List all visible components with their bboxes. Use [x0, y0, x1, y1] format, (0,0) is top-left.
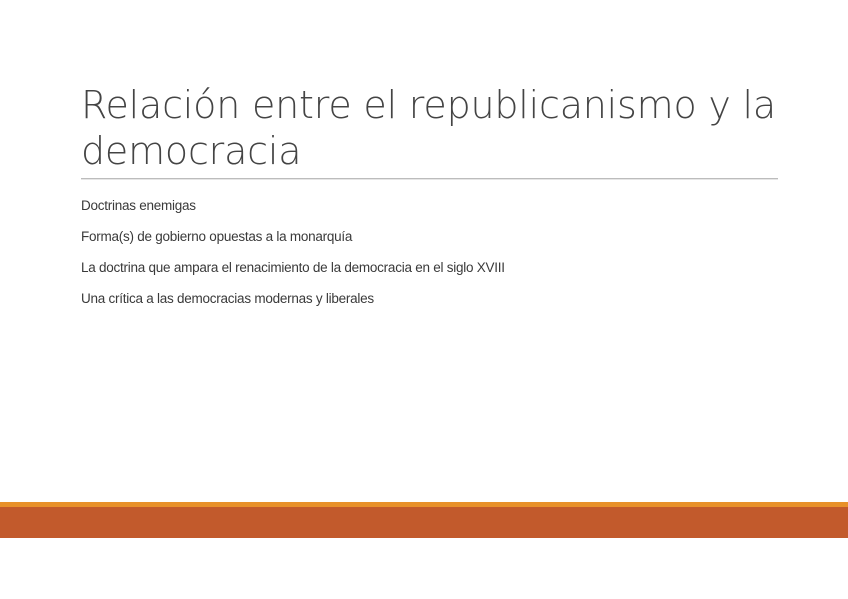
body-content-list: Doctrinas enemigas Forma(s) de gobierno …: [81, 190, 781, 314]
presentation-slide: Relación entre el republicanismo y la de…: [0, 0, 848, 599]
list-item: Doctrinas enemigas: [81, 190, 781, 221]
list-item: La doctrina que ampara el renacimiento d…: [81, 252, 781, 283]
footer-main-bar: [0, 507, 848, 538]
page-title: Relación entre el republicanismo y la de…: [81, 82, 781, 174]
title-block: Relación entre el republicanismo y la de…: [81, 82, 781, 174]
list-item: Forma(s) de gobierno opuestas a la monar…: [81, 221, 781, 252]
title-divider: [81, 178, 778, 180]
list-item: Una crítica a las democracias modernas y…: [81, 283, 781, 314]
